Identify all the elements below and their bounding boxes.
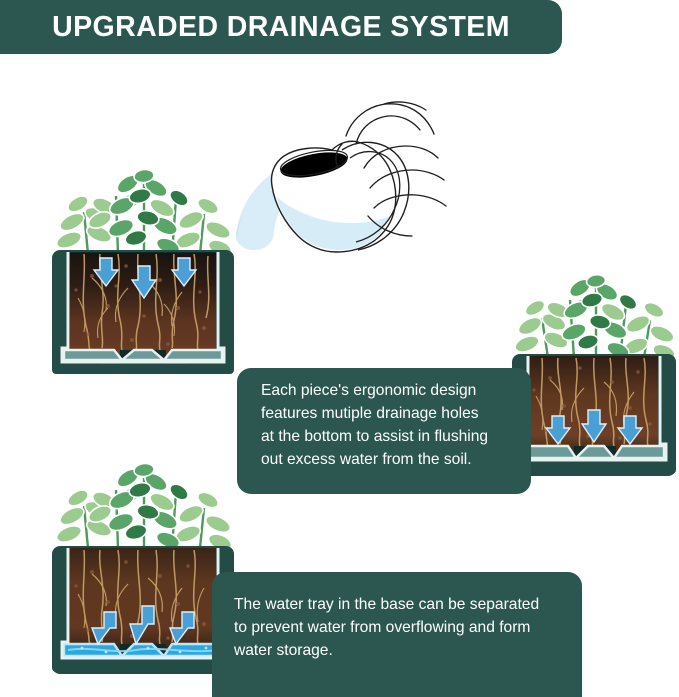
callout-drainage-line-2: features mutiple drainage holes (261, 403, 515, 426)
planter-bottom-left (48, 448, 238, 688)
header-banner: UPGRADED DRAINAGE SYSTEM (0, 0, 562, 54)
water-tray (64, 350, 222, 360)
callout-drainage-line-1: Each piece's ergonomic design (261, 380, 515, 403)
callout-tray-line-2: to prevent water from overflowing and fo… (234, 617, 564, 640)
callout-tray-line-1: The water tray in the base can be separa… (234, 594, 564, 617)
callout-tray: The water tray in the base can be separa… (212, 572, 582, 697)
callout-drainage: Each piece's ergonomic design features m… (237, 368, 531, 494)
callout-drainage-line-4: out excess water from the soil. (261, 449, 515, 472)
page-title: UPGRADED DRAINAGE SYSTEM (52, 11, 510, 44)
planter-top-left (48, 158, 238, 393)
water-tray (524, 446, 664, 458)
callout-tray-line-3: water storage. (234, 640, 564, 663)
plant-foliage (54, 462, 233, 553)
callout-drainage-line-3: at the bottom to assist in flushing (261, 426, 515, 449)
plant-foliage (513, 274, 677, 363)
plant-foliage (54, 168, 233, 259)
planter-right (508, 268, 679, 493)
